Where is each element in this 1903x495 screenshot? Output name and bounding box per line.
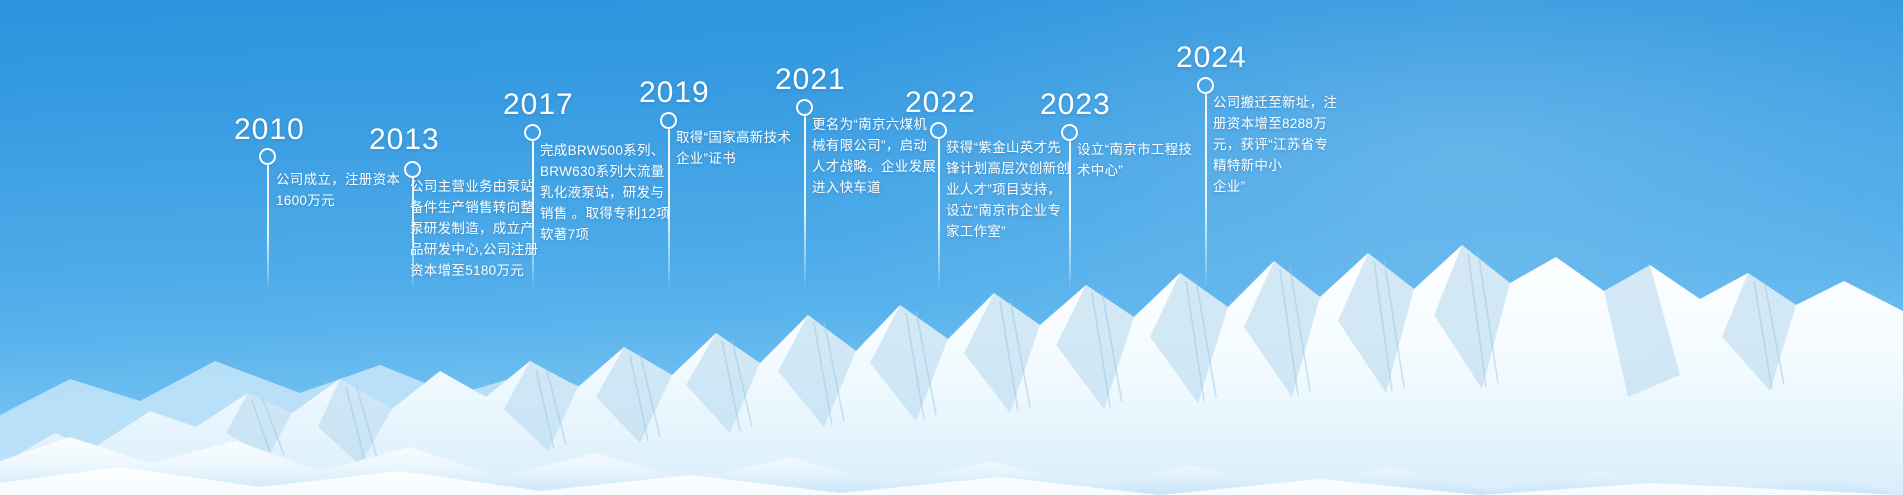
timeline-year-label: 2013 bbox=[369, 125, 440, 155]
timeline-circle-marker[interactable] bbox=[1197, 77, 1214, 94]
timeline-description: 公司搬迁至新址，注 册资本增至8288万 元，获评“江苏省专 精特新中小 企业” bbox=[1213, 92, 1358, 197]
timeline-description: 获得“紫金山英才先 锋计划高层次创新创 业人才”项目支持， 设立“南京市企业专 … bbox=[946, 137, 1086, 242]
timeline-circle-marker[interactable] bbox=[796, 99, 813, 116]
timeline-connector-line bbox=[804, 116, 806, 288]
timeline-year-label: 2017 bbox=[503, 90, 574, 120]
timeline-circle-marker[interactable] bbox=[660, 112, 677, 129]
timeline-description: 完成BRW500系列、 BRW630系列大流量 乳化液泵站，研发与 销售 。取得… bbox=[540, 140, 688, 245]
timeline-description: 取得“国家高新技术 企业”证书 bbox=[676, 127, 816, 169]
timeline-year-label: 2022 bbox=[905, 88, 976, 118]
timeline-year-label: 2010 bbox=[234, 115, 305, 145]
timeline-connector-line bbox=[267, 165, 269, 290]
timeline-description: 公司主营业务由泵站 备件生产销售转向整 泵研发制造，成立产 品研发中心,公司注册… bbox=[410, 176, 550, 281]
timeline-connector-line bbox=[668, 129, 670, 289]
timeline-connector-line bbox=[1069, 141, 1071, 289]
timeline-year-label: 2019 bbox=[639, 78, 710, 108]
timeline-connector-line bbox=[938, 139, 940, 289]
timeline-year-label: 2024 bbox=[1176, 43, 1247, 73]
timeline-connector-line bbox=[1205, 94, 1207, 289]
timeline-description: 公司成立，注册资本 1600万元 bbox=[276, 169, 411, 211]
timeline-connector-line bbox=[532, 141, 534, 289]
timeline-circle-marker[interactable] bbox=[1061, 124, 1078, 141]
timeline-infographic: 2010公司成立，注册资本 1600万元2013公司主营业务由泵站 备件生产销售… bbox=[0, 0, 1903, 495]
timeline-year-label: 2023 bbox=[1040, 90, 1111, 120]
timeline-track: 2010公司成立，注册资本 1600万元2013公司主营业务由泵站 备件生产销售… bbox=[0, 0, 1903, 495]
timeline-circle-marker[interactable] bbox=[259, 148, 276, 165]
timeline-description: 设立“南京市工程技 术中心” bbox=[1077, 139, 1217, 181]
timeline-year-label: 2021 bbox=[775, 65, 846, 95]
timeline-circle-marker[interactable] bbox=[524, 124, 541, 141]
timeline-circle-marker[interactable] bbox=[930, 122, 947, 139]
